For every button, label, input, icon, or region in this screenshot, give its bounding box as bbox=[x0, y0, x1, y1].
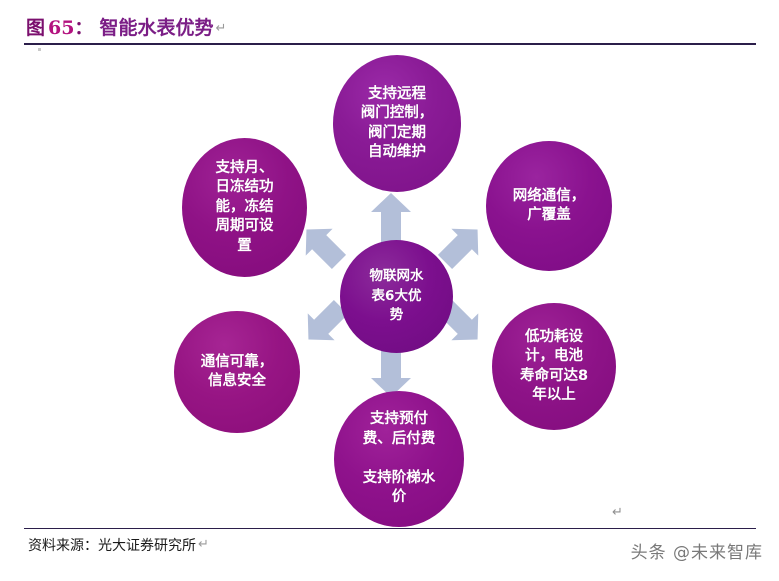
figure-number: 65 bbox=[48, 17, 74, 39]
source-paragraph-mark-icon: ↵ bbox=[198, 537, 209, 552]
source-note: 资料来源：光大证券研究所↵ bbox=[28, 535, 209, 555]
source-note-text: 资料来源：光大证券研究所 bbox=[28, 538, 196, 554]
hub-and-spoke-diagram: 支持远程 阀门控制， 阀门定期 自动维护 网络通信， 广覆盖 低功耗设 计，电池… bbox=[0, 45, 779, 528]
diagram-node-upper-left[interactable]: 支持月、 日冻结功 能，冻结 周期可设 置 bbox=[182, 138, 307, 277]
diagram-node-lower-right[interactable]: 低功耗设 计，电池 寿命可达8 年以上 bbox=[492, 303, 616, 430]
diagram-node-top-label: 支持远程 阀门控制， 阀门定期 自动维护 bbox=[355, 85, 440, 163]
diagram-node-center[interactable]: 物联网水 表6大优 势 bbox=[340, 240, 453, 353]
stray-paragraph-mark-icon: ↵ bbox=[612, 505, 623, 520]
diagram-node-top[interactable]: 支持远程 阀门控制， 阀门定期 自动维护 bbox=[333, 55, 461, 192]
figure-header: 图 65 ： 智能水表优势 ↵ bbox=[0, 0, 779, 45]
diagram-node-lower-left[interactable]: 通信可靠， 信息安全 bbox=[174, 311, 300, 433]
diagram-node-center-label: 物联网水 表6大优 势 bbox=[364, 267, 430, 326]
watermark: 头条 @未来智库 bbox=[631, 538, 763, 563]
diagram-node-lower-right-label: 低功耗设 计，电池 寿命可达8 年以上 bbox=[514, 328, 594, 406]
figure-word: 图 bbox=[26, 13, 45, 40]
arrow-up-icon bbox=[371, 193, 411, 245]
diagram-node-bottom[interactable]: 支持预付 费、后付费 支持阶梯水 价 bbox=[334, 391, 464, 527]
paragraph-mark-icon: ↵ bbox=[215, 21, 226, 36]
diagram-node-upper-left-label: 支持月、 日冻结功 能，冻结 周期可设 置 bbox=[210, 159, 280, 256]
diagram-node-upper-right-label: 网络通信， 广覆盖 bbox=[507, 187, 592, 226]
page-title: 图 65 ： 智能水表优势 ↵ bbox=[26, 13, 226, 40]
footer-divider bbox=[24, 528, 756, 529]
arrow-up-right-icon bbox=[436, 219, 488, 271]
figure-page: 图 65 ： 智能水表优势 ↵ bbox=[0, 0, 779, 581]
diagram-node-lower-left-label: 通信可靠， 信息安全 bbox=[195, 353, 280, 392]
figure-title-text: 智能水表优势 bbox=[99, 13, 213, 40]
diagram-node-bottom-label: 支持预付 费、后付费 支持阶梯水 价 bbox=[357, 410, 442, 507]
diagram-node-upper-right[interactable]: 网络通信， 广覆盖 bbox=[486, 141, 612, 271]
title-colon: ： bbox=[74, 14, 92, 40]
